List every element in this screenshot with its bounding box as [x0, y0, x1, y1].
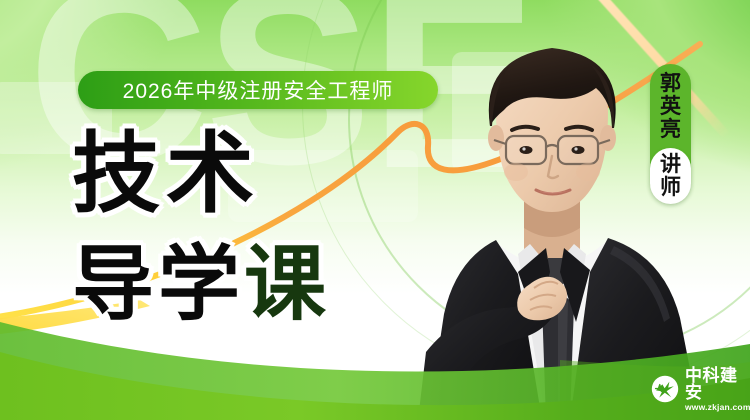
- instructor-name: 郭英亮: [650, 72, 691, 141]
- instructor-role-pill: 讲师: [650, 148, 691, 204]
- page-subtitle-front: 导学: [72, 239, 244, 330]
- course-badge: 2026年中级注册安全工程师: [78, 71, 438, 109]
- page-subtitle: 导学课: [72, 244, 330, 326]
- instructor-role: 讲师: [650, 153, 691, 199]
- page-subtitle-last: 课: [244, 239, 330, 330]
- arrow-star-icon: [651, 375, 679, 403]
- brand-logo[interactable]: 中科建安 www.zkjan.com: [651, 367, 750, 412]
- brand-text-block: 中科建安 www.zkjan.com: [685, 367, 750, 412]
- brand-name: 中科建安: [685, 367, 750, 401]
- brand-url: www.zkjan.com: [685, 403, 750, 412]
- page-title: 技术: [72, 130, 260, 218]
- course-cover-poster: C S E: [0, 0, 750, 420]
- course-badge-label: 2026年中级注册安全工程师: [123, 75, 394, 105]
